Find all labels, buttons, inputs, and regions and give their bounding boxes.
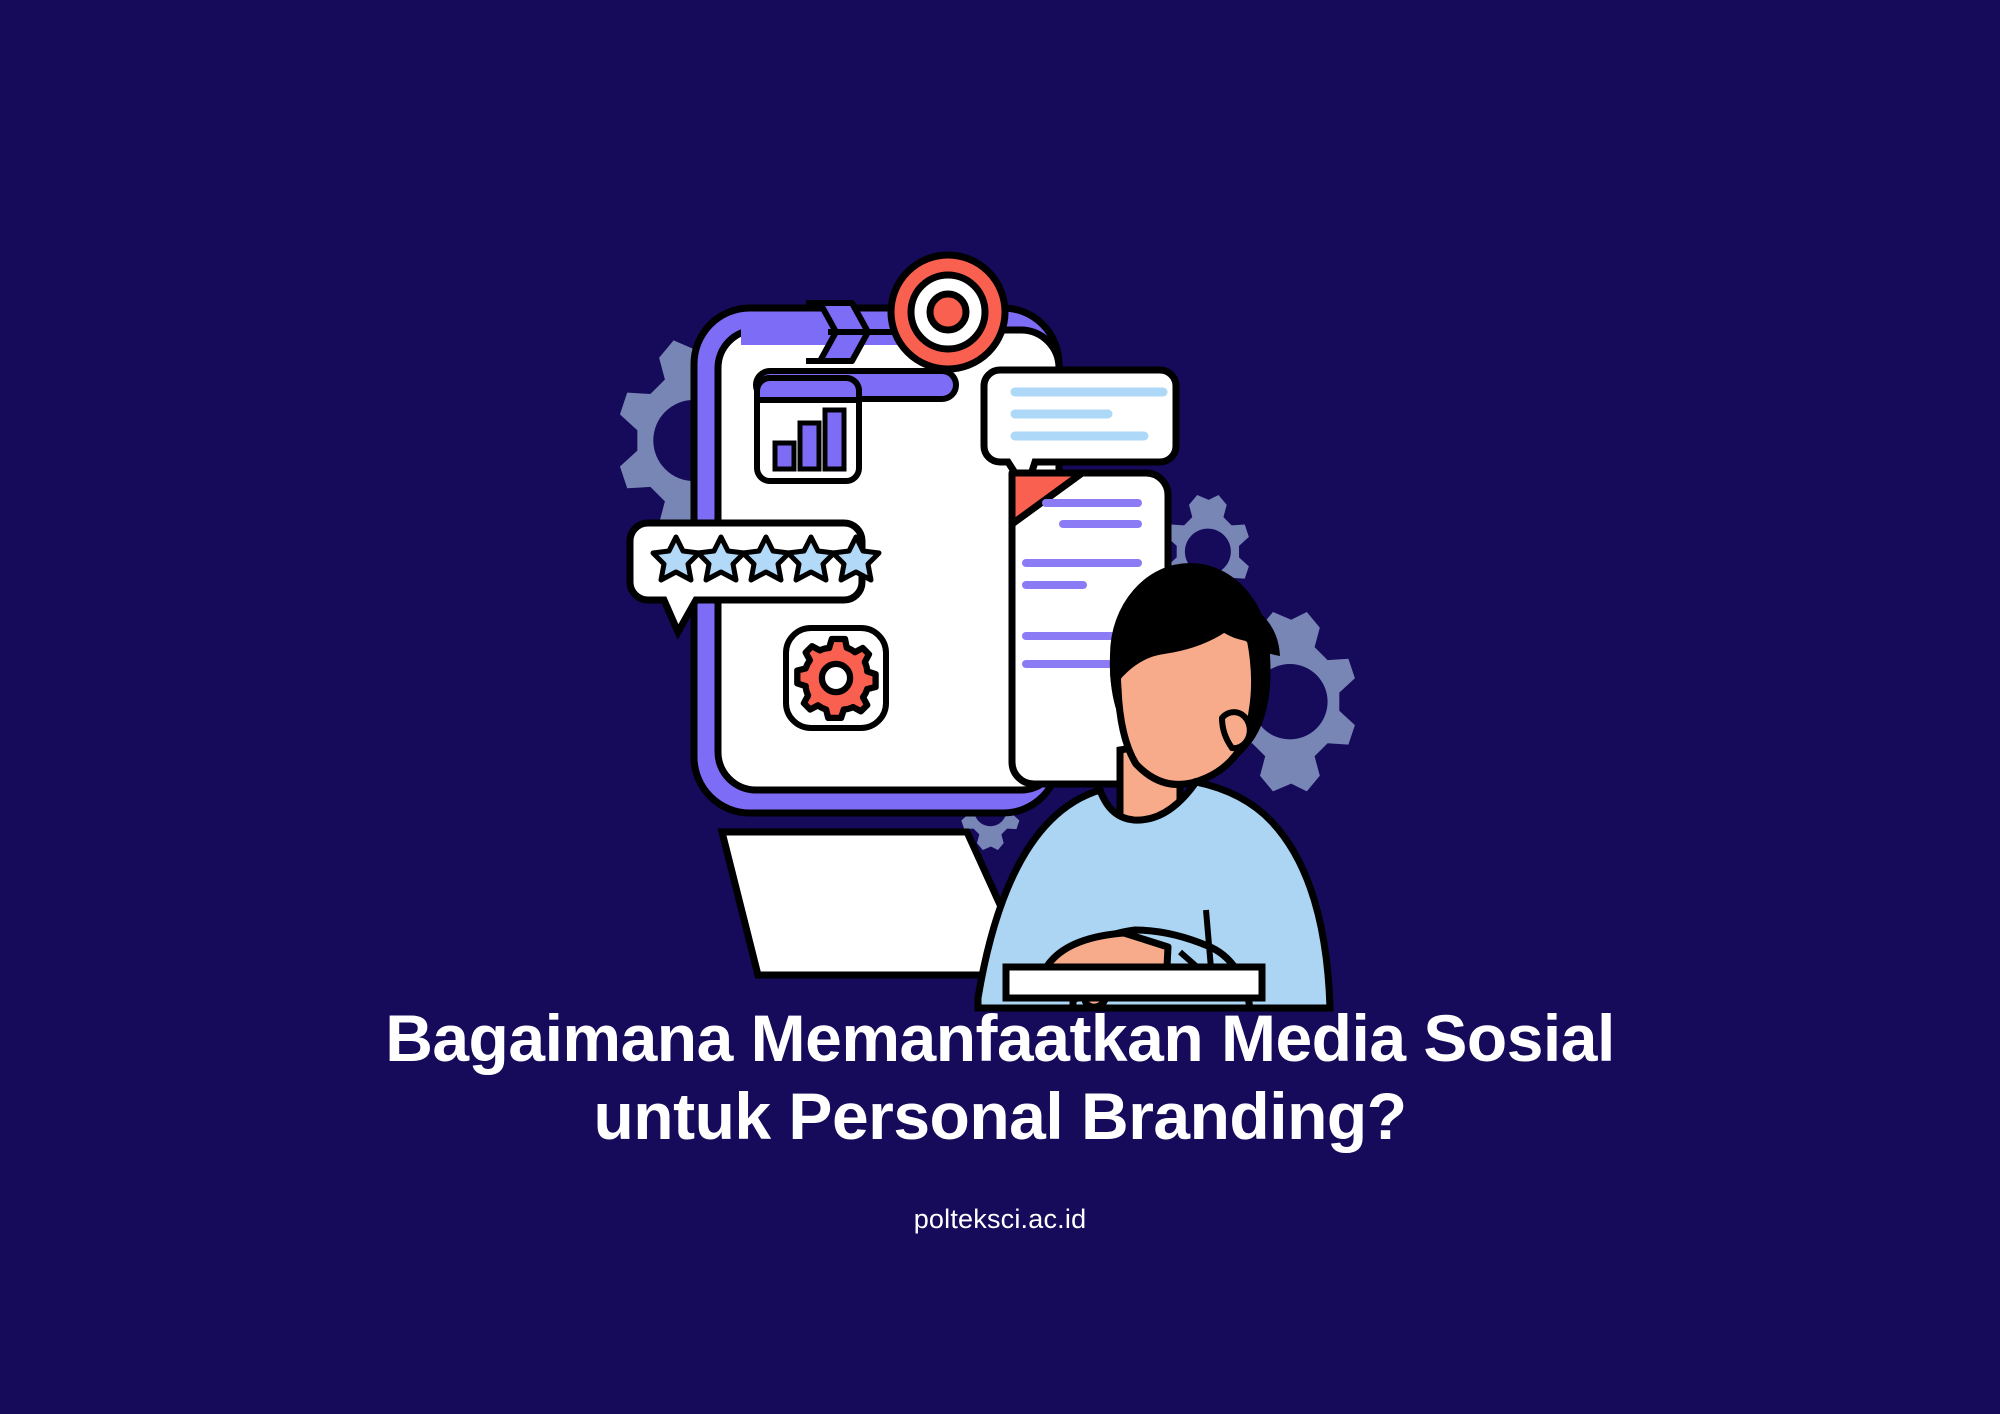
target-bullseye [891, 255, 1005, 369]
page-title-line-2: untuk Personal Branding? [0, 1078, 2000, 1156]
gear-icon [797, 639, 875, 718]
bar-chart-card [757, 378, 859, 481]
hero-illustration [0, 0, 2000, 1020]
page-title-line-1: Bagaimana Memanfaatkan Media Sosial [0, 1000, 2000, 1078]
laptop-base-front [1006, 967, 1262, 998]
text-block: Bagaimana Memanfaatkan Media Sosial untu… [0, 1000, 2000, 1235]
poster-canvas: Bagaimana Memanfaatkan Media Sosial untu… [0, 0, 2000, 1414]
page-title: Bagaimana Memanfaatkan Media Sosial untu… [0, 1000, 2000, 1156]
site-url: polteksci.ac.id [0, 1204, 2000, 1235]
settings-gear-tile [786, 628, 886, 728]
